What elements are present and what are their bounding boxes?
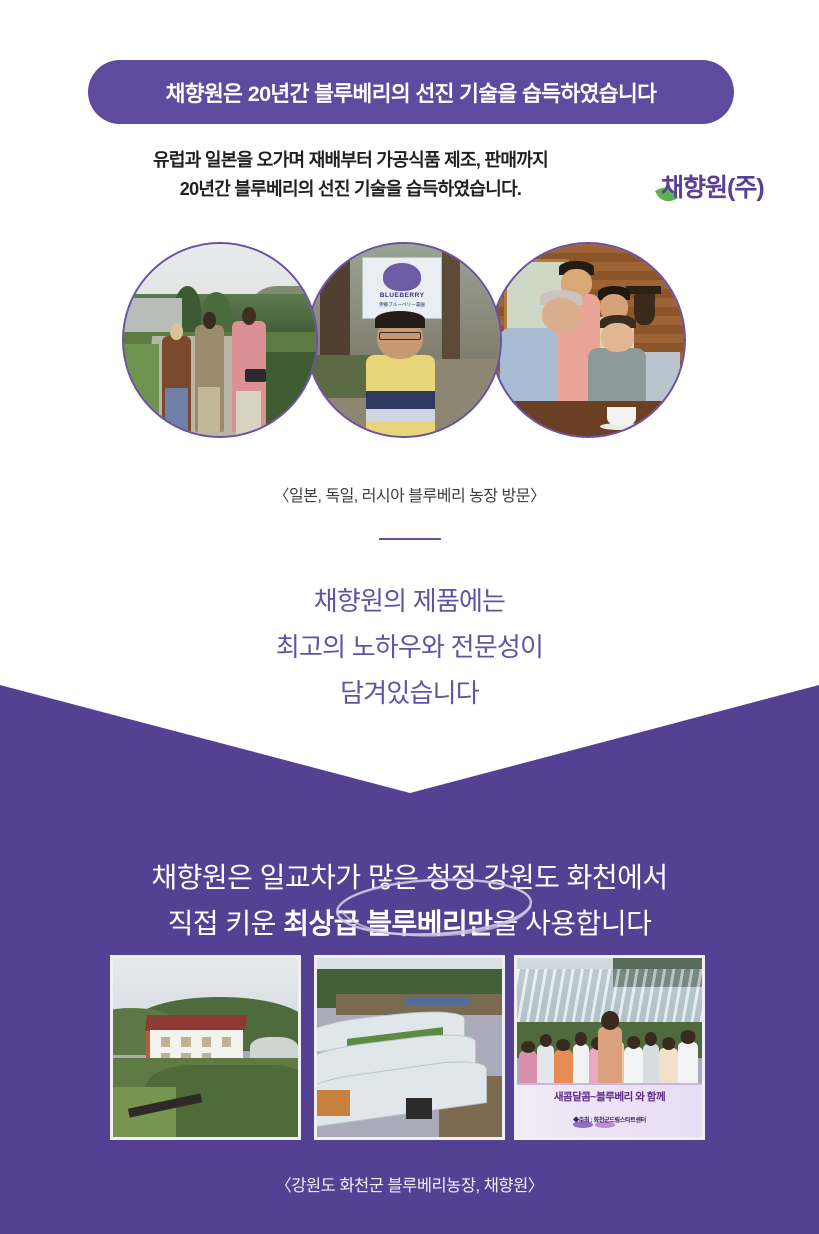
farmhouse-photo (113, 958, 298, 1137)
headline-pill: 채향원은 20년간 블루베리의 선진 기술을 습득하였습니다 (88, 60, 734, 124)
headline-part-a: 직접 키운 (168, 908, 284, 939)
blueberry-sign-photo: BLUEBERRY 伊藤ブルーベリー農園 (308, 244, 500, 436)
circle-photo-caption: 〈일본, 독일, 러시아 블루베리 농장 방문〉 (0, 482, 819, 506)
headline-part-b: 을 사용합니다 (493, 908, 652, 939)
bottom-photo-2 (314, 955, 505, 1140)
section-two-headline-line-2: 직접 키운 최상급 블루베리만을 사용합니다 (0, 901, 819, 947)
banner-text: 새콤달콤~블루베리 와 함께 (517, 1089, 702, 1104)
mid-headline-line-3: 담겨있습니다 (0, 670, 819, 716)
landing-page: 채향원은 20년간 블루베리의 선진 기술을 습득하였습니다 유럽과 일본을 오… (0, 0, 819, 1234)
bottom-photo-1 (110, 955, 301, 1140)
bottom-photo-3: 새콤달콤~블루베리 와 함께 ◆주최 : 화천군드림스타트센터 (514, 955, 705, 1140)
company-logo: 채향원(주) (661, 168, 764, 204)
mid-headline: 채향원의 제품에는 최고의 노하우와 전문성이 담겨있습니다 (0, 578, 819, 716)
circle-photo-row: BLUEBERRY 伊藤ブルーベリー農園 (0, 242, 819, 440)
sign-title: BLUEBERRY (363, 292, 442, 299)
sign-subtitle: 伊藤ブルーベリー農園 (363, 302, 442, 308)
children-group-photo: 새콤달콤~블루베리 와 함께 ◆주최 : 화천군드림스타트센터 (517, 958, 702, 1137)
banner-subtext: ◆주최 : 화천군드림스타트센터 (517, 1115, 702, 1124)
company-logo-text: 채향원(주) (661, 168, 764, 204)
headline-part-bold: 최상급 블루베리만 (283, 908, 492, 939)
event-banner: 새콤달콤~블루베리 와 함께 ◆주최 : 화천군드림스타트센터 (517, 1083, 702, 1137)
circle-photo-1 (122, 242, 318, 438)
cabin-meeting-photo (492, 244, 684, 436)
section-two-headline: 채향원은 일교차가 많은 청정 강원도 화천에서 직접 키운 최상급 블루베리만… (0, 855, 819, 947)
mid-headline-line-2: 최고의 노하우와 전문성이 (0, 624, 819, 670)
bottom-photo-row: 새콤달콤~블루베리 와 함께 ◆주최 : 화천군드림스타트센터 (0, 955, 819, 1140)
blueberry-sign: BLUEBERRY 伊藤ブルーベリー農園 (362, 257, 443, 318)
circle-photo-3 (490, 242, 686, 438)
mid-headline-line-1: 채향원의 제품에는 (0, 578, 819, 624)
greenhouse-photo (317, 958, 502, 1137)
children-group (517, 1015, 702, 1090)
bottom-photo-caption: 〈강원도 화천군 블루베리농장, 채향원〉 (0, 1172, 819, 1196)
circle-photo-2: BLUEBERRY 伊藤ブルーベリー農園 (306, 242, 502, 438)
farm-walk-photo (124, 244, 316, 436)
section-two-headline-line-1: 채향원은 일교차가 많은 청정 강원도 화천에서 (0, 855, 819, 901)
headline-pill-text: 채향원은 20년간 블루베리의 선진 기술을 습득하였습니다 (166, 77, 657, 108)
section-divider (379, 538, 441, 540)
